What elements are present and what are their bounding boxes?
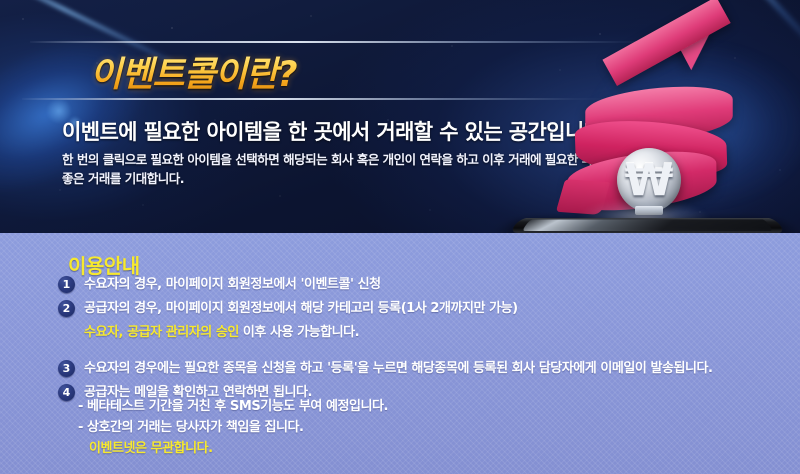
event-call-promo-page: 이벤트콜이란? 이벤트에 필요한 아이템을 한 곳에서 거래할 수 있는 공간입… — [0, 0, 800, 474]
step-number-badge: 3 — [58, 360, 75, 377]
guide-note-2: - 상호간의 거래는 당사자가 책임을 집니다. — [78, 417, 388, 438]
guide-step-text: 수요자의 경우, 마이페이지 회원정보에서 '이벤트콜' 신청 — [84, 274, 381, 295]
page-title: 이벤트콜이란? — [90, 46, 297, 97]
tablet-device-icon — [509, 218, 786, 233]
guide-notes: - 베타테스트 기간을 거친 후 SMS기능도 부여 예정입니다. - 상호간의… — [78, 396, 388, 459]
guide-step-2: 2 공급자의 경우, 마이페이지 회원정보에서 해당 카테고리 등록(1사 2개… — [58, 298, 788, 319]
step-number-badge: 1 — [58, 276, 75, 293]
tablet-screen — [522, 219, 774, 230]
step-number-badge: 4 — [58, 384, 75, 401]
guide-step-2-rest: 이후 사용 가능합니다. — [239, 325, 359, 340]
hero-illustration: ₩ — [495, 30, 800, 260]
guide-note-1: - 베타테스트 기간을 거친 후 SMS기능도 부여 예정입니다. — [78, 396, 388, 417]
guide-step-text: 수요자의 경우에는 필요한 종목을 신청을 하고 '등록'을 누르면 해당종목에… — [84, 358, 713, 379]
guide-step-1: 1 수요자의 경우, 마이페이지 회원정보에서 '이벤트콜' 신청 — [58, 274, 788, 295]
guide-step-list: 1 수요자의 경우, 마이페이지 회원정보에서 '이벤트콜' 신청 2 공급자의… — [58, 274, 788, 406]
guide-step-2-subline: 수요자, 공급자 관리자의 승인 이후 사용 가능합니다. — [84, 322, 788, 343]
guide-step-text: 공급자의 경우, 마이페이지 회원정보에서 해당 카테고리 등록(1사 2개까지… — [84, 298, 518, 319]
step-number-badge: 2 — [58, 300, 75, 317]
guide-step-2-highlight: 수요자, 공급자 관리자의 승인 — [84, 325, 239, 340]
guide-step-3: 3 수요자의 경우에는 필요한 종목을 신청을 하고 '등록'을 누르면 해당종… — [58, 358, 788, 379]
guide-note-disclaimer: 이벤트넷은 무관합니다. — [78, 438, 388, 459]
